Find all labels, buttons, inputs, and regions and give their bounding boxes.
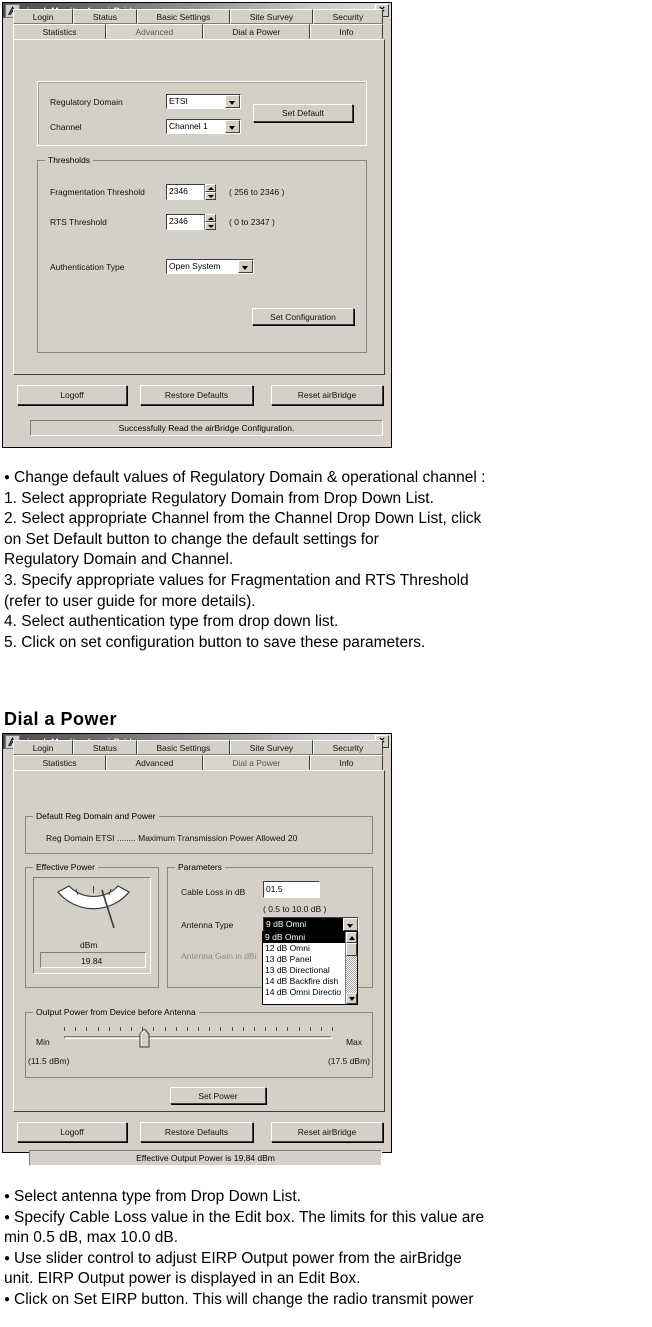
spinner-buttons[interactable]: [205, 184, 216, 200]
tab-info[interactable]: Info: [310, 24, 383, 39]
effective-power-value-box: 19.84: [40, 952, 146, 968]
logoff-button[interactable]: Logoff: [17, 385, 127, 405]
instruction-line: 3. Specify appropriate values for Fragme…: [4, 571, 652, 592]
label-authentication-type: Authentication Type: [50, 262, 125, 272]
spinner-up-icon[interactable]: [205, 214, 216, 222]
label-antenna-gain: Antenna Gain in dBi: [181, 951, 257, 961]
cable-loss-input[interactable]: 01.5: [263, 881, 320, 898]
instruction-line: 4. Select authentication type from drop …: [4, 612, 652, 633]
dropdown-option[interactable]: 14 dB Omni Directio: [263, 987, 345, 998]
tab-security[interactable]: Security: [313, 9, 383, 24]
scroll-down-icon[interactable]: [346, 993, 357, 1004]
tab-site-survey[interactable]: Site Survey: [230, 740, 313, 755]
cable-loss-range-hint: ( 0.5 to 10.0 dB ): [263, 904, 326, 914]
instructions-advanced: Change default values of Regulatory Doma…: [4, 468, 652, 653]
label-antenna-type: Antenna Type: [181, 920, 233, 930]
rts-threshold-value[interactable]: 2346: [166, 214, 205, 230]
output-power-slider[interactable]: [64, 1027, 332, 1051]
channel-value: Channel 1: [167, 120, 225, 133]
instruction-line: 2. Select appropriate Channel from the C…: [4, 509, 652, 530]
status-bar-dial: Effective Output Power is 19.84 dBm: [29, 1150, 382, 1166]
dropdown-option[interactable]: 9 dB Omni: [263, 932, 345, 943]
tab-row-2: Statistics Advanced Dial a Power Info: [13, 24, 383, 39]
group-regulatory-domain: Regulatory Domain ETSI Channel Channel 1…: [37, 81, 367, 146]
antenna-type-combo[interactable]: 9 dB Omni: [263, 917, 359, 932]
instructions-dial: Select antenna type from Drop Down List.…: [4, 1187, 652, 1311]
spinner-buttons[interactable]: [205, 214, 216, 230]
slider-max-label: Max: [346, 1037, 362, 1047]
legend-default-reg-domain: Default Reg Domain and Power: [33, 811, 159, 821]
chevron-down-icon[interactable]: [238, 260, 253, 273]
effective-power-panel: dBm 19.84: [33, 877, 151, 974]
tab-row-2: Statistics Advanced Dial a Power Info: [13, 755, 383, 770]
instruction-line: 1. Select appropriate Regulatory Domain …: [4, 489, 652, 510]
group-default-reg-domain: Default Reg Domain and Power Reg Domain …: [25, 816, 373, 854]
tab-info[interactable]: Info: [310, 755, 383, 770]
page-section-heading: Dial a Power: [4, 709, 117, 730]
fragmentation-threshold-stepper[interactable]: 2346: [166, 184, 216, 200]
gauge-unit-label: dBm: [80, 940, 97, 950]
spinner-down-icon[interactable]: [205, 222, 216, 230]
set-configuration-button[interactable]: Set Configuration: [252, 308, 354, 325]
group-thresholds: Thresholds Fragmentation Threshold 2346 …: [37, 160, 367, 353]
legend-thresholds: Thresholds: [45, 155, 93, 165]
legend-output-power: Output Power from Device before Antenna: [33, 1007, 199, 1017]
tab-login[interactable]: Login: [13, 740, 73, 755]
label-rts-threshold: RTS Threshold: [50, 217, 107, 227]
reset-airbridge-button[interactable]: Reset airBridge: [271, 1122, 383, 1142]
instruction-line: Specify Cable Loss value in the Edit box…: [4, 1208, 652, 1229]
status-bar-advanced: Successfully Read the airBridge Configur…: [30, 420, 383, 436]
scroll-up-icon[interactable]: [346, 932, 357, 943]
tab-row-1: Login Status Basic Settings Site Survey …: [13, 740, 383, 755]
antenna-type-dropdown-list[interactable]: 9 dB Omni 12 dB Omni 13 dB Panel 13 dB D…: [262, 931, 358, 1005]
tab-status[interactable]: Status: [73, 740, 137, 755]
tab-basic-settings[interactable]: Basic Settings: [137, 740, 230, 755]
tab-status[interactable]: Status: [73, 9, 137, 24]
set-default-button[interactable]: Set Default: [253, 104, 353, 122]
instruction-line: unit. EIRP Output power is displayed in …: [4, 1269, 652, 1290]
spinner-down-icon[interactable]: [205, 192, 216, 200]
tabstrip-advanced: Login Status Basic Settings Site Survey …: [13, 9, 383, 39]
tab-site-survey[interactable]: Site Survey: [230, 9, 313, 24]
dropdown-scrollbar[interactable]: [345, 932, 357, 1004]
regulatory-domain-value: ETSI: [167, 95, 225, 108]
label-cable-loss: Cable Loss in dB: [181, 887, 245, 897]
fragmentation-threshold-value[interactable]: 2346: [166, 184, 205, 200]
group-effective-power: Effective Power dBm 19.84: [25, 867, 159, 988]
reg-domain-line: Reg Domain ETSI ........ Maximum Transmi…: [46, 833, 297, 843]
regulatory-domain-combo[interactable]: ETSI: [166, 94, 241, 109]
tab-dial-a-power[interactable]: Dial a Power: [203, 24, 310, 39]
instruction-line: (refer to user guide for more details).: [4, 592, 652, 613]
instruction-line: Use slider control to adjust EIRP Output…: [4, 1249, 652, 1270]
window-dial-a-power: simpleMonitor for airBridge ✕ Login Stat…: [2, 733, 392, 1153]
slider-thumb[interactable]: [139, 1029, 150, 1048]
slider-track[interactable]: [64, 1036, 332, 1039]
channel-combo[interactable]: Channel 1: [166, 119, 241, 134]
instruction-line: Regulatory Domain and Channel.: [4, 550, 652, 571]
dropdown-option[interactable]: 12 dB Omni: [263, 943, 345, 954]
restore-defaults-button[interactable]: Restore Defaults: [140, 385, 253, 405]
instruction-line: min 0.5 dB, max 10.0 dB.: [4, 1228, 652, 1249]
label-regulatory-domain: Regulatory Domain: [50, 97, 123, 107]
tab-dial-a-power[interactable]: Dial a Power: [203, 755, 310, 770]
chevron-down-icon[interactable]: [343, 918, 358, 931]
legend-effective-power: Effective Power: [33, 862, 98, 872]
group-output-power: Output Power from Device before Antenna …: [25, 1012, 373, 1078]
tab-basic-settings[interactable]: Basic Settings: [137, 9, 230, 24]
scrollbar-thumb[interactable]: [346, 943, 357, 956]
label-fragmentation-threshold: Fragmentation Threshold: [50, 187, 145, 197]
instruction-line: Select antenna type from Drop Down List.: [4, 1187, 652, 1208]
reset-airbridge-button[interactable]: Reset airBridge: [271, 385, 383, 405]
scrollbar-track[interactable]: [346, 956, 357, 993]
instruction-line: 5. Click on set configuration button to …: [4, 633, 652, 654]
slider-min-value: (11.5 dBm): [28, 1056, 69, 1066]
tab-advanced[interactable]: Advanced: [106, 755, 203, 770]
chevron-down-icon[interactable]: [225, 95, 240, 108]
legend-parameters: Parameters: [175, 862, 225, 872]
window-advanced: simpleMonitor for airBridge ✕ Login Stat…: [2, 2, 392, 448]
tab-statistics[interactable]: Statistics: [13, 24, 106, 39]
label-channel: Channel: [50, 122, 82, 132]
fragmentation-range-hint: ( 256 to 2346 ): [229, 187, 284, 197]
tabstrip-dial: Login Status Basic Settings Site Survey …: [13, 740, 383, 770]
antenna-type-value: 9 dB Omni: [264, 918, 343, 931]
dropdown-option[interactable]: 14 dB Backfire dish: [263, 976, 345, 987]
slider-max-value: (17.5 dBm): [328, 1056, 370, 1066]
set-power-button[interactable]: Set Power: [170, 1087, 266, 1104]
power-gauge: [46, 884, 141, 944]
spinner-up-icon[interactable]: [205, 184, 216, 192]
instruction-line: Change default values of Regulatory Doma…: [4, 468, 652, 489]
slider-min-label: Min: [36, 1037, 50, 1047]
tab-statistics[interactable]: Statistics: [13, 755, 106, 770]
authentication-type-value: Open System: [167, 260, 238, 273]
tab-advanced[interactable]: Advanced: [106, 24, 203, 39]
effective-power-value: 19.84: [81, 956, 102, 966]
instruction-line: on Set Default button to change the defa…: [4, 530, 652, 551]
slider-ticks: [64, 1027, 332, 1032]
dropdown-options[interactable]: 9 dB Omni 12 dB Omni 13 dB Panel 13 dB D…: [263, 932, 345, 1004]
chevron-down-icon[interactable]: [225, 120, 240, 133]
rts-threshold-stepper[interactable]: 2346: [166, 214, 216, 230]
tab-security[interactable]: Security: [313, 740, 383, 755]
tab-login[interactable]: Login: [13, 9, 73, 24]
logoff-button[interactable]: Logoff: [17, 1122, 127, 1142]
restore-defaults-button[interactable]: Restore Defaults: [140, 1122, 253, 1142]
dropdown-option[interactable]: 13 dB Panel: [263, 954, 345, 965]
instruction-line: Click on Set EIRP button. This will chan…: [4, 1290, 652, 1311]
rts-range-hint: ( 0 to 2347 ): [229, 217, 275, 227]
authentication-type-combo[interactable]: Open System: [166, 259, 254, 274]
dropdown-option[interactable]: 13 dB Directional: [263, 965, 345, 976]
tab-row-1: Login Status Basic Settings Site Survey …: [13, 9, 383, 24]
